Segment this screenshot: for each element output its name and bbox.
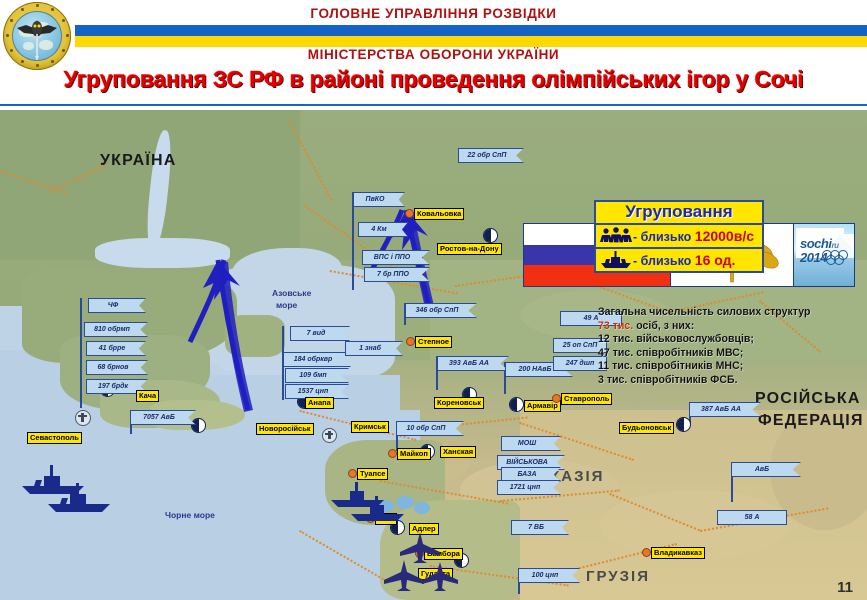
city-label: Будьоновськ [619, 422, 674, 434]
city-label: Степное [415, 336, 452, 348]
unit-tag: 7 ВБ [511, 520, 569, 535]
sea-label-azov-2: море [276, 300, 297, 310]
fighter-jet-icon [420, 560, 460, 592]
unit-tag-label: 109 бмп [299, 372, 326, 379]
unit-tag-label: 1721 цнп [510, 484, 541, 491]
unit-tag: БАЗА [501, 467, 561, 482]
unit-tag: 4 Км [358, 222, 408, 237]
unit-tag: АвБ [731, 462, 801, 477]
flag-stripe-yellow [75, 36, 867, 47]
unit-tag-label: 247 дшп [566, 360, 594, 367]
city-label: Майкоп [397, 448, 431, 460]
slide-root: ГОЛОВНЕ УПРАВЛІННЯ РОЗВІДКИ МІНІСТЕРСТВА… [0, 0, 867, 600]
unit-tag-label: БАЗА [517, 471, 536, 478]
unit-tag: 1721 цнп [497, 480, 561, 495]
page-number: 11 [837, 579, 853, 596]
unit-tag-label: 4 Км [371, 226, 386, 233]
country-label-russia-2: ФЕДЕРАЦІЯ [758, 412, 864, 430]
stats-lead: Загальна чисельність силових структур [598, 306, 854, 320]
unit-tag-label: 7 вид [307, 330, 326, 337]
grouping-row-ships: - близько 16 од. [594, 249, 764, 273]
unit-tag-label: 7 ВБ [528, 524, 544, 531]
ship-icon [599, 251, 633, 269]
city-dot [388, 449, 397, 458]
unit-tag: 7 бр ППО [364, 267, 430, 282]
city-label: Новоросійськ [256, 423, 314, 435]
title-divider [0, 104, 867, 106]
country-label-ukraine: УКРАЇНА [100, 152, 176, 170]
unit-tag-label: 7 бр ППО [377, 271, 409, 278]
grouping-row-ships-text: - близько 16 од. [633, 252, 735, 268]
grouping-panel: Угруповання - близько 12000в/с [594, 200, 764, 273]
unit-tag: 810 обрмп [84, 322, 148, 337]
military-unit-symbol [509, 397, 524, 412]
unit-tag-label: 197 брдк [98, 383, 128, 390]
unit-tag-label: 346 обр СпП [416, 307, 459, 314]
unit-tag: 41 брре [86, 341, 146, 356]
city-dot [405, 209, 414, 218]
page-title: Угруповання ЗС РФ в районі проведення ол… [0, 66, 867, 93]
city-dot [406, 337, 415, 346]
unit-tag-label: 1 знаб [359, 345, 381, 352]
city-label: Ханская [440, 446, 476, 458]
unit-tag-label: 49 А [584, 315, 599, 322]
port-anchor-icon [322, 428, 337, 443]
unit-tag-label: 100 цнп [532, 572, 559, 579]
unit-pole [80, 298, 82, 408]
unit-tag-label: 810 обрмп [94, 326, 130, 333]
sea-label-azov-1: Азовське [272, 288, 311, 298]
unit-tag-label: 10 обр СпП [407, 425, 446, 432]
unit-tag: 387 АвБ АА [689, 402, 761, 417]
unit-tag-label: ВІЙСЬКОВА [506, 459, 548, 466]
country-label-russia-1: РОСІЙСЬКА [755, 390, 861, 408]
city-label: Кримськ [351, 421, 389, 433]
unit-tag-label: ВПС і ППО [374, 254, 411, 261]
map-canvas: УКРАЇНА РОСІЙСЬКА ФЕДЕРАЦІЯ АБХАЗІЯ ГРУЗ… [0, 110, 867, 600]
unit-tag-label: ЧФ [108, 302, 118, 309]
stats-line: 3 тис. співробітників ФСБ. [598, 374, 854, 388]
unit-tag-label: АвБ [755, 466, 769, 473]
unit-tag-label: 200 НАвБ [519, 366, 552, 373]
slide-header: ГОЛОВНЕ УПРАВЛІННЯ РОЗВІДКИ МІНІСТЕРСТВА… [0, 0, 867, 108]
unit-tag-label: 58 А [745, 514, 760, 521]
unit-tag: 7 вид [290, 326, 350, 341]
stats-total: 73 тис. осіб, з них: [598, 320, 854, 334]
warship-icon [348, 492, 408, 526]
stats-line: 47 тис. співробітників МВС; [598, 347, 854, 361]
city-label: Ковальовка [414, 208, 464, 220]
unit-tag: 68 брнов [86, 360, 148, 375]
sea-label-black: Чорне море [165, 510, 215, 520]
city-label: Ростов-на-Дону [437, 243, 502, 255]
unit-tag: 109 бмп [285, 368, 349, 383]
unit-tag-label: 1537 цнп [298, 388, 329, 395]
warship-icon [44, 478, 114, 518]
port-anchor-icon [75, 410, 91, 426]
troops-icon [599, 227, 633, 245]
city-label: Севастополь [27, 432, 82, 444]
city-label: Кача [136, 390, 159, 402]
city-dot [642, 548, 651, 557]
grouping-panel-title: Угруповання [594, 200, 764, 225]
unit-tag: ЧФ [88, 298, 146, 313]
grouping-row-troops: - близько 12000в/с [594, 225, 764, 249]
unit-tag-label: 393 АвБ АА [449, 360, 489, 367]
unit-tag-label: 7057 АвБ [143, 414, 175, 421]
unit-tag: 346 обр СпП [405, 303, 477, 318]
military-unit-symbol [483, 228, 498, 243]
military-unit-symbol [676, 417, 691, 432]
grouping-row-troops-text: - близько 12000в/с [633, 228, 754, 244]
city-label: Анапа [305, 397, 334, 409]
unit-tag-label: 22 обр СпП [468, 152, 507, 159]
header-line-1: ГОЛОВНЕ УПРАВЛІННЯ РОЗВІДКИ [0, 6, 867, 21]
stats-line: 12 тис. військовослужбовців; [598, 333, 854, 347]
unit-tag-label: 387 АвБ АА [701, 406, 741, 413]
unit-tag-label: 25 оп СпП [563, 342, 598, 349]
military-unit-symbol [191, 418, 206, 433]
unit-tag-label: ПвКО [366, 196, 385, 203]
unit-tag-label: 68 брнов [97, 364, 128, 371]
unit-tag: ВПС і ППО [362, 250, 430, 265]
city-label: Владикавказ [651, 547, 705, 559]
stats-line: 11 тис. співробітників МНС; [598, 360, 854, 374]
unit-tag: 22 обр СпП [458, 148, 524, 163]
unit-tag: 184 обрквр [283, 352, 351, 367]
unit-tag: МОШ [501, 436, 561, 451]
unit-tag: 7057 АвБ [130, 410, 196, 425]
unit-tag: 100 цнп [518, 568, 580, 583]
sochi-2014-logo: sochiru 2014 [794, 224, 854, 286]
unit-tag: 393 АвБ АА [437, 356, 509, 371]
force-strength-stats: Загальна чисельність силових структур 73… [598, 306, 854, 388]
unit-tag: 10 обр СпП [396, 421, 464, 436]
city-dot [552, 394, 561, 403]
city-label: Ставрополь [561, 393, 612, 405]
flag-stripe-blue [75, 25, 867, 36]
country-label-georgia: ГРУЗІЯ [586, 568, 650, 585]
unit-tag: 1 знаб [345, 341, 403, 356]
unit-tag: 58 А [717, 510, 787, 525]
unit-tag-label: 41 брре [99, 345, 126, 352]
header-line-2: МІНІСТЕРСТВА ОБОРОНИ УКРАЇНИ [0, 47, 867, 62]
unit-tag-label: 184 обрквр [294, 356, 333, 363]
city-label: Кореновськ [434, 397, 484, 409]
city-dot [348, 469, 357, 478]
unit-tag: ПвКО [353, 192, 405, 207]
unit-tag-label: МОШ [518, 440, 536, 447]
